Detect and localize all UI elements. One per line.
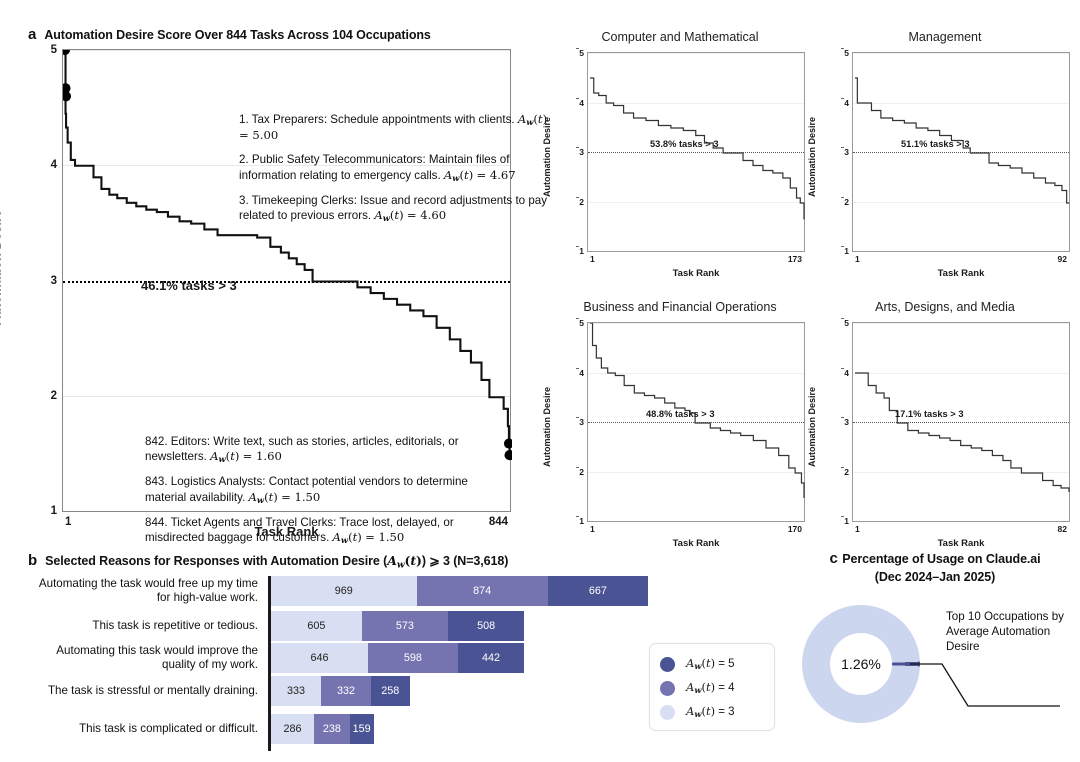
small-multiple-xtick-min: 1 [855, 524, 860, 534]
panel-b-row-label: Automating the task would free up my tim… [28, 577, 258, 605]
small-multiple-ytick: 1 [844, 516, 849, 526]
panel-b-row-label: This task is repetitive or tedious. [28, 619, 258, 633]
note-item: 3. Timekeeping Clerks: Issue and record … [239, 193, 557, 224]
small-multiple-threshold-annotation: 17.1% tasks > 3 [895, 409, 964, 419]
panel-b-row: This task is repetitive or tedious.60557… [0, 611, 790, 641]
small-multiple-ytick: 1 [579, 516, 584, 526]
small-multiple-ytick: 3 [579, 147, 584, 157]
panel-b-legend-item[interactable]: Aw(t) = 3 [660, 700, 764, 724]
panel-b-row: Automating the task would free up my tim… [0, 576, 790, 606]
panel-b-bar-segment: 598 [368, 643, 458, 673]
panel-c-header: c Percentage of Usage on Claude.ai (Dec … [792, 550, 1078, 586]
panel-b-bar-segment: 442 [458, 643, 524, 673]
small-multiple-line-series [588, 53, 806, 253]
small-multiple-threshold-annotation: 48.8% tasks > 3 [646, 409, 715, 419]
panel-b-stacked-bar: 605573508 [271, 611, 524, 641]
small-multiple-y-axis-label: Automation Desire [807, 387, 817, 467]
panel-b-legend-item[interactable]: Aw(t) = 4 [660, 676, 764, 700]
small-multiple-x-axis-label: Task Rank [587, 268, 805, 279]
small-multiple-ytick: 2 [844, 467, 849, 477]
small-multiple-title: Management [820, 30, 1070, 44]
highlight-point [504, 439, 512, 449]
small-multiple-title: Computer and Mathematical [555, 30, 805, 44]
small-multiple-ytick: 5 [844, 48, 849, 58]
donut-chart: 1.26% [802, 605, 920, 723]
small-multiple-threshold-annotation: 51.1% tasks > 3 [901, 139, 970, 149]
small-multiple-ytick: 4 [579, 98, 584, 108]
small-multiple-plot-area: 5432119251.1% tasks > 3 [852, 52, 1070, 252]
panel-a-ytick-1: 1 [51, 505, 57, 517]
small-multiple-ytick: 1 [844, 246, 849, 256]
small-multiple-arts-designs-and-media: Arts, Designs, and MediaAutomation Desir… [820, 300, 1078, 550]
figure-root: a Automation Desire Score Over 844 Tasks… [0, 0, 1080, 762]
small-multiple-xtick-min: 1 [590, 524, 595, 534]
small-multiple-xtick-max: 173 [788, 254, 802, 264]
small-multiple-ytick: 2 [579, 197, 584, 207]
panel-a-ytick-3: 3 [51, 275, 57, 287]
small-multiple-xtick-max: 170 [788, 524, 802, 534]
panel-c-title-line2: (Dec 2024–Jan 2025) [875, 570, 995, 584]
panel-a-ytick-2: 2 [51, 390, 57, 402]
small-multiple-y-axis-label: Automation Desire [542, 387, 552, 467]
note-item: 842. Editors: Write text, such as storie… [145, 434, 495, 465]
panel-b-stacked-bar: 333332258 [271, 676, 410, 706]
panel-a-ytick-4: 4 [51, 159, 57, 171]
small-multiple-ytick: 3 [844, 417, 849, 427]
panel-b-legend: Aw(t) = 5Aw(t) = 4Aw(t) = 3 [649, 643, 775, 731]
panel-a-title: Automation Desire Score Over 844 Tasks A… [44, 28, 430, 42]
panel-a-letter: a [28, 26, 36, 43]
panel-b-legend-label: Aw(t) = 3 [686, 704, 735, 719]
panel-b-bar-segment: 238 [314, 714, 350, 744]
small-multiple-ytick: 4 [844, 368, 849, 378]
panel-b-stacked-bar: 969874667 [271, 576, 648, 606]
small-multiple-xtick-min: 1 [590, 254, 595, 264]
small-multiple-ytick: 5 [579, 318, 584, 328]
panel-b-bar-segment: 605 [271, 611, 362, 641]
small-multiple-xtick-max: 82 [1058, 524, 1067, 534]
donut-center-value: 1.26% [830, 633, 892, 695]
legend-swatch-icon [660, 657, 675, 672]
small-multiple-x-axis-label: Task Rank [852, 268, 1070, 279]
small-multiple-line-series [853, 53, 1071, 253]
small-multiple-ytick: 1 [579, 246, 584, 256]
panel-b-letter: b [28, 552, 37, 569]
small-multiple-plot-area: 54321117048.8% tasks > 3 [587, 322, 805, 522]
small-multiple-ytick: 4 [579, 368, 584, 378]
panel-b-bar-segment: 159 [350, 714, 374, 744]
small-multiple-y-axis-label: Automation Desire [807, 117, 817, 197]
small-multiple-plot-area: 54321117353.8% tasks > 3 [587, 52, 805, 252]
panel-b-row-label: Automating this task would improve the q… [28, 644, 258, 672]
small-multiple-management: ManagementAutomation Desire5432119251.1%… [820, 30, 1078, 280]
panel-b-bar-segment: 874 [417, 576, 548, 606]
small-multiple-ytick: 3 [844, 147, 849, 157]
panel-a-ytick-5: 5 [51, 44, 57, 56]
note-item: 2. Public Safety Telecommunicators: Main… [239, 152, 557, 183]
small-multiple-threshold-annotation: 53.8% tasks > 3 [650, 139, 719, 149]
panel-b: b Selected Reasons for Responses with Au… [0, 548, 790, 762]
small-multiple-ytick: 2 [844, 197, 849, 207]
panel-c-title-line1: Percentage of Usage on Claude.ai [842, 552, 1040, 566]
panel-a-x-axis-label: Task Rank [62, 524, 511, 539]
small-multiple-ytick: 4 [844, 98, 849, 108]
panel-a-header: a Automation Desire Score Over 844 Tasks… [28, 26, 431, 43]
note-item: 843. Logistics Analysts: Contact potenti… [145, 474, 495, 505]
legend-swatch-icon [660, 681, 675, 696]
panel-b-bar-segment: 573 [362, 611, 448, 641]
small-multiple-xtick-max: 92 [1058, 254, 1067, 264]
panel-b-bar-segment: 286 [271, 714, 314, 744]
panel-a-threshold-annotation: 46.1% tasks > 3 [141, 278, 237, 293]
highlight-point [63, 50, 70, 55]
small-multiple-business-and-financial-operations: Business and Financial OperationsAutomat… [555, 300, 813, 550]
panel-c-letter: c [829, 550, 837, 567]
panel-a-y-axis-label: Automation Desire [0, 210, 4, 326]
small-multiple-line-series [853, 323, 1071, 523]
panel-b-bar-segment: 646 [271, 643, 368, 673]
panel-b-legend-item[interactable]: Aw(t) = 5 [660, 652, 764, 676]
small-multiple-ytick: 5 [579, 48, 584, 58]
small-multiple-ytick: 3 [579, 417, 584, 427]
panel-b-bar-segment: 258 [371, 676, 410, 706]
panel-b-stacked-bar: 646598442 [271, 643, 524, 673]
legend-swatch-icon [660, 705, 675, 720]
panel-a-top-notes: 1. Tax Preparers: Schedule appointments … [239, 112, 557, 233]
panel-b-row-label: The task is stressful or mentally draini… [28, 684, 258, 698]
panel-b-header: b Selected Reasons for Responses with Au… [28, 552, 508, 570]
small-multiple-xtick-min: 1 [855, 254, 860, 264]
panel-b-bar-segment: 969 [271, 576, 417, 606]
note-item: 1. Tax Preparers: Schedule appointments … [239, 112, 557, 143]
small-multiple-computer-and-mathematical: Computer and MathematicalAutomation Desi… [555, 30, 813, 280]
panel-b-bar-segment: 667 [548, 576, 648, 606]
panel-b-legend-label: Aw(t) = 4 [686, 680, 735, 695]
panel-b-row-label: This task is complicated or difficult. [28, 722, 258, 736]
small-multiple-plot-area: 5432118217.1% tasks > 3 [852, 322, 1070, 522]
highlight-point [63, 91, 71, 101]
small-multiple-title: Arts, Designs, and Media [820, 300, 1070, 314]
panel-b-bar-segment: 332 [321, 676, 371, 706]
panel-b-bar-segment: 508 [448, 611, 524, 641]
panel-b-bar-segment: 333 [271, 676, 321, 706]
small-multiple-title: Business and Financial Operations [555, 300, 805, 314]
panel-b-title: Selected Reasons for Responses with Auto… [45, 553, 508, 570]
small-multiple-y-axis-label: Automation Desire [542, 117, 552, 197]
panel-b-stacked-bar: 286238159 [271, 714, 374, 744]
small-multiple-line-series [588, 323, 806, 523]
panel-b-legend-label: Aw(t) = 5 [686, 656, 735, 671]
callout-leader-line [910, 658, 1060, 728]
panel-a-plot-area: 5 4 3 2 1 1 844 46.1% tasks > 3 1. Tax P… [62, 49, 511, 512]
small-multiple-ytick: 5 [844, 318, 849, 328]
panel-c-callout-label: Top 10 Occupations by Average Automation… [946, 610, 1066, 654]
panel-c: c Percentage of Usage on Claude.ai (Dec … [790, 548, 1080, 762]
panel-a: a Automation Desire Score Over 844 Tasks… [0, 0, 540, 548]
small-multiple-ytick: 2 [579, 467, 584, 477]
